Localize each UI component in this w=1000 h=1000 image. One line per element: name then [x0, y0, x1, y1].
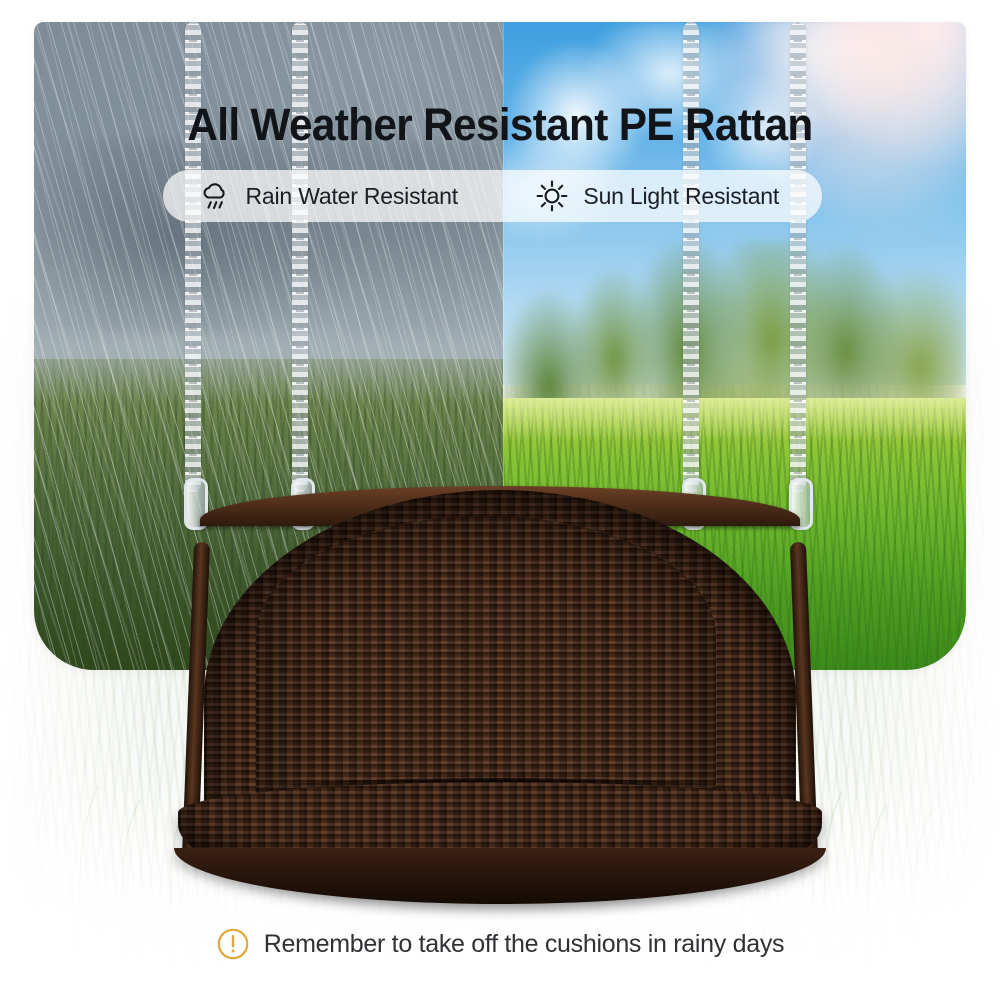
footnote-text: Remember to take off the cushions in rai…: [264, 930, 784, 959]
warning-exclamation-circle-icon: [216, 927, 250, 961]
hanging-chain-3: [683, 22, 699, 492]
hanging-chain-1: [185, 22, 201, 492]
rain-cloud-icon: [198, 179, 232, 213]
rattan-porch-swing: [160, 482, 840, 902]
hanging-chain-4: [790, 22, 806, 492]
hanging-chain-2: [292, 22, 308, 492]
sun-icon: [535, 179, 569, 213]
page-title: All Weather Resistant PE Rattan: [30, 101, 970, 148]
footnote-note: Remember to take off the cushions in rai…: [0, 927, 1000, 961]
product-feature-image: All Weather Resistant PE Rattan Rain Wat…: [0, 0, 1000, 1000]
badge-sun-light-resistant[interactable]: Sun Light Resistant: [493, 170, 823, 222]
badge-rain-water-resistant[interactable]: Rain Water Resistant: [163, 170, 493, 222]
feature-badge-group: Rain Water Resistant Sun Light Resistant: [163, 170, 822, 222]
swing-seat-edge-rim: [174, 848, 826, 904]
badge-sun-label: Sun Light Resistant: [583, 183, 779, 210]
badge-rain-label: Rain Water Resistant: [246, 183, 458, 210]
